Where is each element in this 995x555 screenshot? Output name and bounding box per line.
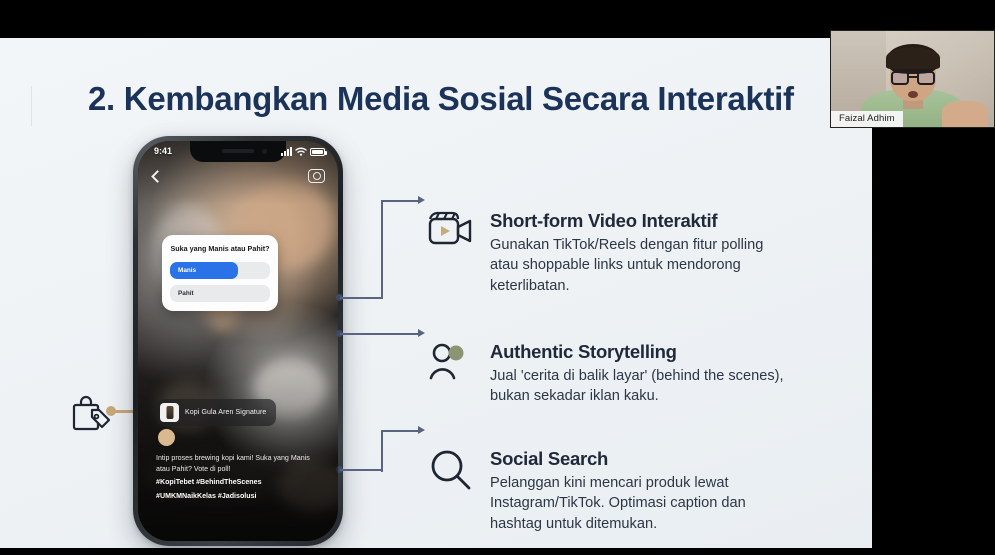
caption-hashtags-line-1: #KopiTebet #BehindTheScenes [156,477,324,488]
feature-item-short-form-video: Short-form Video Interaktif Gunakan TikT… [428,210,788,296]
feature-title: Short-form Video Interaktif [490,210,788,231]
battery-icon [310,148,325,156]
poll-option-label: Manis [170,267,196,274]
feature-title: Authentic Storytelling [490,341,788,362]
back-chevron-icon[interactable] [151,170,164,183]
poll-card: Suka yang Manis atau Pahit? Manis Pahit [162,235,278,311]
connector-video [340,178,430,308]
wifi-icon [295,147,307,156]
coffee-cup-thumb-icon [160,403,179,422]
caption-hashtags-line-2: #UMKMNaikKelas #Jadisolusi [156,491,324,502]
feature-title: Social Search [490,448,788,469]
status-bar-clock: 9:41 [154,146,172,156]
magnifier-search-icon [428,448,474,494]
post-caption: Intip proses brewing kopi kami! Suka yan… [156,453,324,502]
page-title: 2. Kembangkan Media Sosial Secara Intera… [88,80,794,118]
feature-description: Pelanggan kini mencari produk lewat Inst… [490,473,788,533]
avatar [158,429,175,446]
poll-option-manis[interactable]: Manis [170,262,270,279]
poll-option-pahit[interactable]: Pahit [170,285,270,302]
product-tag[interactable]: Kopi Gula Aren Signature [156,399,276,426]
camera-icon[interactable] [308,169,325,183]
glasses-icon [891,71,935,85]
phone-status-bar: 9:41 [138,144,338,162]
phone-mockup: 9:41 [133,136,343,546]
participant-name-label: Faizal Adhim [831,111,903,128]
person-profile-icon [428,341,474,387]
presentation-slide: 2. Kembangkan Media Sosial Secara Intera… [0,38,872,548]
signal-bars-icon [281,147,292,156]
caption-text: Intip proses brewing kopi kami! Suka yan… [156,453,324,475]
feature-description: Gunakan TikTok/Reels dengan fitur pollin… [490,235,788,295]
slide-edge-line [31,86,32,126]
shopping-bag-tag-icon [68,390,110,434]
webcam-participant-tile[interactable]: Faizal Adhim [830,30,995,128]
product-tag-label: Kopi Gula Aren Signature [185,409,266,416]
screen-recording-frame: 2. Kembangkan Media Sosial Secara Intera… [0,0,995,555]
connector-search [340,418,430,478]
phone-screen: 9:41 [138,141,338,541]
connector-storytelling [340,324,430,344]
feature-description: Jual 'cerita di balik layar' (behind the… [490,366,788,406]
feature-item-social-search: Social Search Pelanggan kini mencari pro… [428,448,788,534]
poll-question: Suka yang Manis atau Pahit? [170,244,270,254]
video-camera-icon [428,210,474,256]
feature-item-authentic-storytelling: Authentic Storytelling Jual 'cerita di b… [428,341,788,407]
poll-option-label: Pahit [170,290,194,297]
